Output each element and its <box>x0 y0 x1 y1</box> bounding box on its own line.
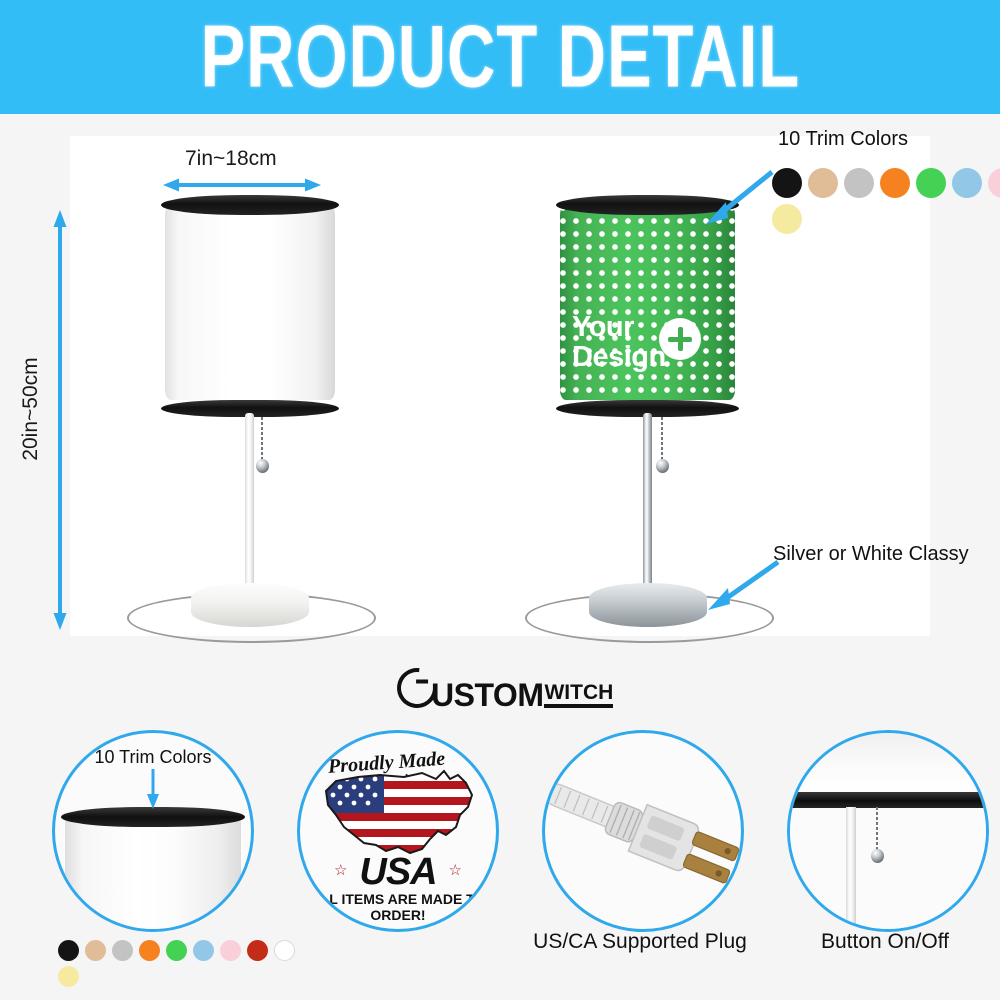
height-dimension-label: 20in~50cm <box>19 349 43 469</box>
chain-ball <box>656 459 669 473</box>
width-dimension-arrow <box>163 178 321 192</box>
usa-map-flag-icon <box>318 765 480 863</box>
trim-swatch-gray[interactable] <box>844 168 874 198</box>
shade-rim-closeup <box>61 807 245 827</box>
lamp-pole-white <box>245 413 254 605</box>
chain-cord <box>876 807 878 851</box>
brand-logo: USTOM WITCH <box>397 668 613 710</box>
chain-ball <box>256 459 269 473</box>
usa-word: USA <box>300 851 496 894</box>
trim-swatch-light-blue[interactable] <box>193 940 214 961</box>
trim-swatch-row-1 <box>772 168 1000 198</box>
shade-body-pattern: Your Design <box>560 205 735 400</box>
feature-caption: US/CA Supported Plug <box>525 930 755 954</box>
feature-caption: Button On/Off <box>770 930 1000 954</box>
shade-body <box>165 205 335 400</box>
feature-inner-label: 10 Trim Colors <box>55 747 251 768</box>
lamp-shade-white <box>165 195 335 413</box>
feature-circle <box>787 730 989 932</box>
width-dimension-label: 7in~18cm <box>185 147 277 171</box>
header-banner: PRODUCT DETAIL <box>0 0 1000 114</box>
height-dimension-arrow <box>52 210 68 630</box>
switch-backdrop <box>790 795 986 929</box>
feature-circle: 10 Trim Colors <box>52 730 254 932</box>
trim-swatch-green[interactable] <box>916 168 946 198</box>
power-plug-icon <box>545 733 741 929</box>
star-icon-right: ☆ <box>449 861 462 879</box>
lamp-white <box>120 195 380 645</box>
design-line-2: Design <box>572 342 727 372</box>
shade-rim-top <box>161 195 339 215</box>
logo-sub-text: WITCH <box>544 683 613 703</box>
design-line-1: Your <box>572 312 727 342</box>
logo-main-text: USTOM <box>431 680 543 710</box>
trim-swatch-black[interactable] <box>58 940 79 961</box>
usa-subtext: ALL ITEMS ARE MADE TO ORDER! <box>300 891 496 923</box>
feature-made-in-usa: Proudly Made in the <box>297 730 499 932</box>
feature-trim-colors: 10 Trim Colors <box>52 730 254 932</box>
trim-pointer-arrow <box>700 166 780 228</box>
trim-swatch-panel-top <box>772 168 1000 234</box>
shade-closeup <box>65 815 241 932</box>
feature-switch: Button On/Off <box>787 730 989 932</box>
page-title: PRODUCT DETAIL <box>200 7 800 107</box>
shade-rim-closeup <box>787 792 989 808</box>
base-finish-arrow <box>700 556 786 614</box>
trim-swatch-tan[interactable] <box>85 940 106 961</box>
trim-closeup-arrow <box>145 769 161 809</box>
plus-icon[interactable] <box>659 318 701 360</box>
trim-swatch-yellow[interactable] <box>58 966 79 987</box>
trim-swatch-red[interactable] <box>247 940 268 961</box>
chain-cord <box>661 417 663 461</box>
base-finish-label: Silver or White Classy <box>773 543 969 566</box>
trim-swatch-pink[interactable] <box>220 940 241 961</box>
trim-swatch-gray[interactable] <box>112 940 133 961</box>
trim-swatch-orange[interactable] <box>880 168 910 198</box>
lamp-base-white <box>191 583 309 627</box>
lamp-pole-silver <box>643 413 652 605</box>
lamp-pole-closeup <box>846 807 856 929</box>
product-detail-infographic: PRODUCT DETAIL 7in~18cm 20in~50cm <box>0 0 1000 1000</box>
feature-plug: US/CA Supported Plug <box>542 730 744 932</box>
trim-swatch-row-2 <box>772 204 1000 234</box>
trim-swatch-tan[interactable] <box>808 168 838 198</box>
trim-swatch-white[interactable] <box>274 940 295 961</box>
trim-swatch-row-1 <box>58 940 295 961</box>
trim-colors-label-top: 10 Trim Colors <box>778 128 908 151</box>
trim-swatch-pink[interactable] <box>988 168 1000 198</box>
chain-ball <box>871 849 884 863</box>
trim-swatch-panel-bottom <box>58 940 295 987</box>
trim-swatch-green[interactable] <box>166 940 187 961</box>
feature-circle: Proudly Made in the <box>297 730 499 932</box>
trim-swatch-row-2 <box>58 966 295 987</box>
trim-swatch-light-blue[interactable] <box>952 168 982 198</box>
logo-underline <box>544 704 613 708</box>
lamp-base-silver <box>589 583 707 627</box>
design-placeholder-text: Your Design <box>572 312 727 372</box>
trim-swatch-orange[interactable] <box>139 940 160 961</box>
usa-badge: Proudly Made in the <box>300 733 496 929</box>
chain-cord <box>261 417 263 461</box>
feature-circle <box>542 730 744 932</box>
shade-bottom-closeup <box>787 733 989 795</box>
